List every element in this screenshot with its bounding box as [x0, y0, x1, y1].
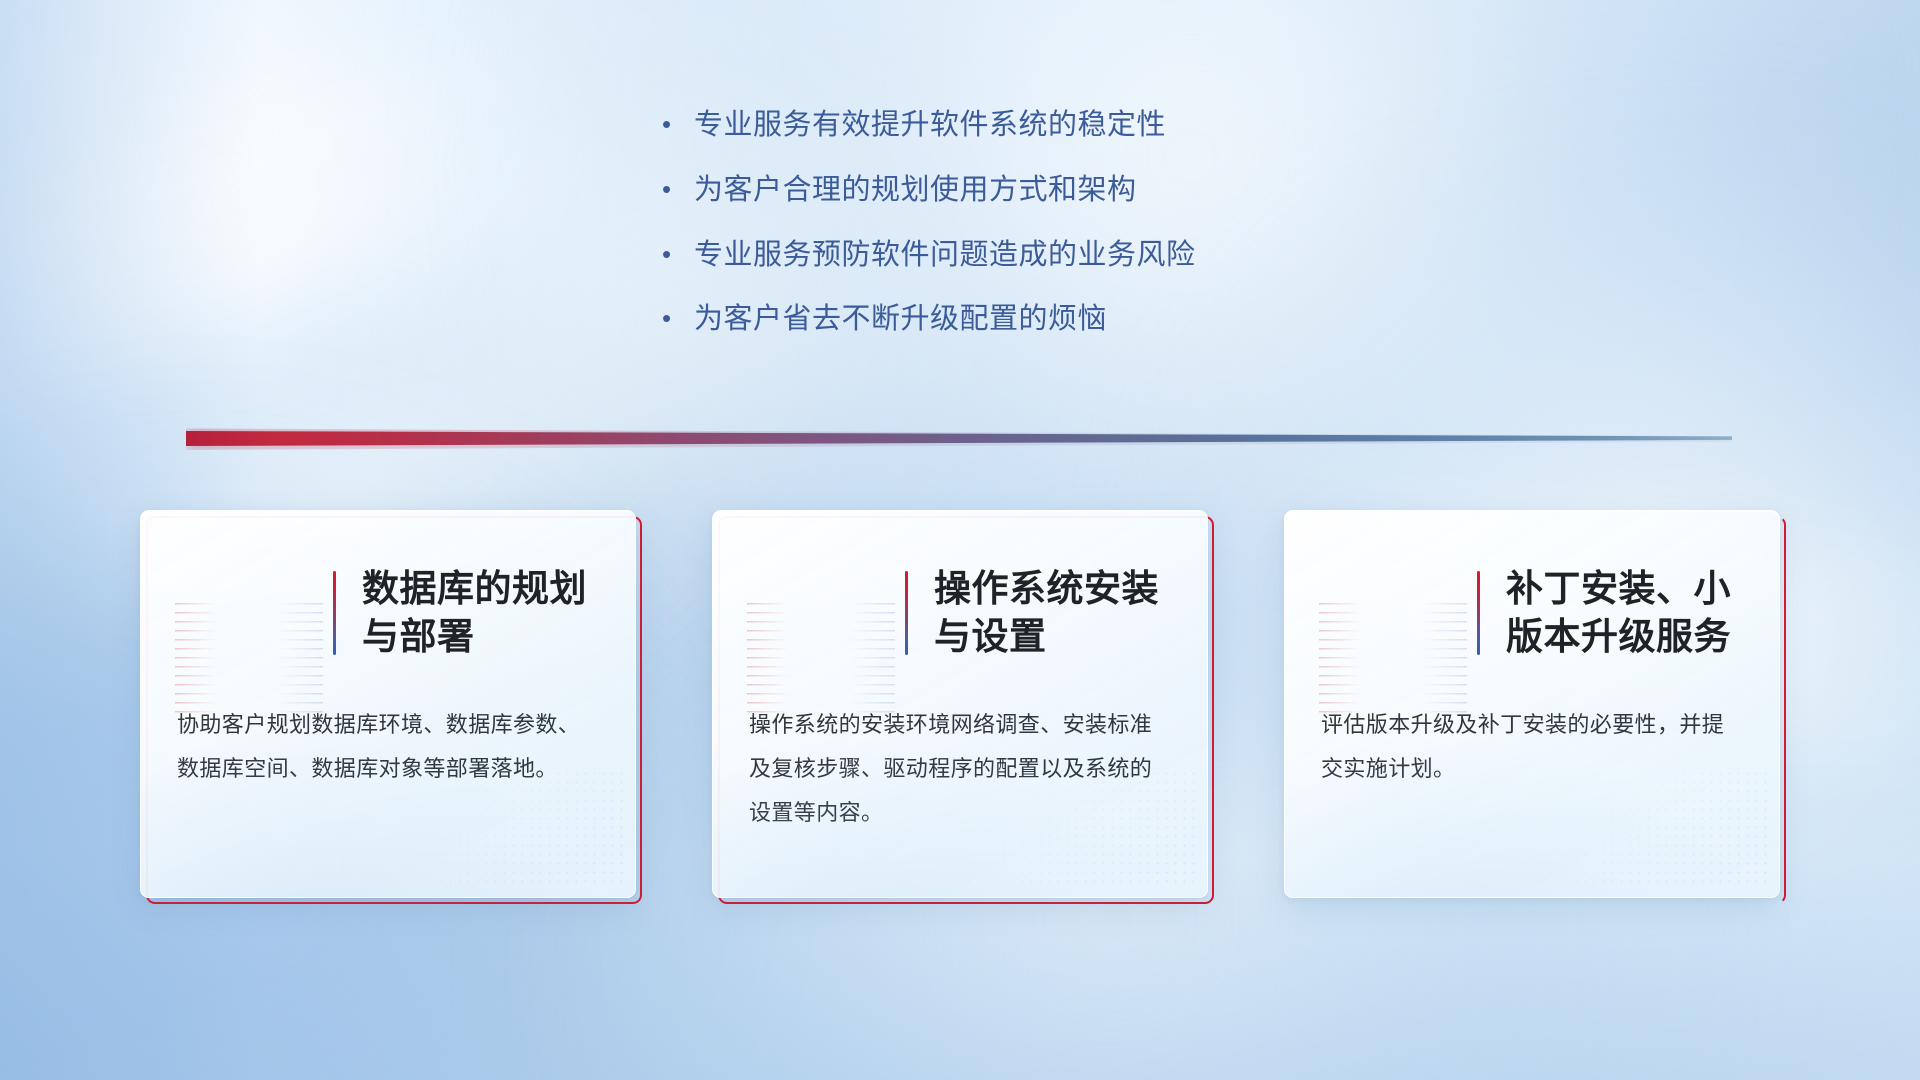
card-header: 01 数据库的规划与部署 — [141, 511, 635, 679]
card-number-03: 03 — [1319, 567, 1467, 659]
card-body-02: 操作系统的安装环境网络调查、安装标准及复核步骤、驱动程序的配置以及系统的设置等内… — [713, 679, 1207, 835]
card-divider-rule — [333, 571, 336, 655]
service-cards-section: 01 数据库的规划与部署 协助客户规划数据库环境、数据库参数、数据库空间、数据库… — [0, 510, 1920, 898]
card-number-02: 02 — [747, 567, 895, 659]
bullet-dot-icon: • — [660, 108, 694, 141]
card-header: 03 补丁安装、小版本升级服务 — [1285, 511, 1779, 679]
bullet-text-1: 专业服务有效提升软件系统的稳定性 — [694, 108, 1420, 143]
card-title-02: 操作系统安装与设置 — [934, 565, 1177, 661]
bullet-dot-icon: • — [660, 173, 694, 206]
card-divider-rule — [1477, 571, 1480, 655]
card-body-01: 协助客户规划数据库环境、数据库参数、数据库空间、数据库对象等部署落地。 — [141, 679, 635, 791]
service-card-03[interactable]: 03 补丁安装、小版本升级服务 评估版本升级及补丁安装的必要性，并提交实施计划。 — [1284, 510, 1780, 898]
card-surface: 01 数据库的规划与部署 协助客户规划数据库环境、数据库参数、数据库空间、数据库… — [140, 510, 636, 898]
card-number-text: 03 — [1319, 567, 1426, 659]
card-title-03: 补丁安装、小版本升级服务 — [1506, 565, 1749, 661]
list-item: • 专业服务预防软件问题造成的业务风险 — [660, 238, 1420, 273]
list-item: • 为客户合理的规划使用方式和架构 — [660, 173, 1420, 208]
benefits-bullet-list: • 专业服务有效提升软件系统的稳定性 • 为客户合理的规划使用方式和架构 • 专… — [660, 108, 1420, 367]
section-divider — [186, 430, 1732, 446]
service-card-01[interactable]: 01 数据库的规划与部署 协助客户规划数据库环境、数据库参数、数据库空间、数据库… — [140, 510, 636, 898]
card-header: 02 操作系统安装与设置 — [713, 511, 1207, 679]
bullet-dot-icon: • — [660, 238, 694, 271]
card-divider-rule — [905, 571, 908, 655]
card-body-03: 评估版本升级及补丁安装的必要性，并提交实施计划。 — [1285, 679, 1779, 791]
list-item: • 专业服务有效提升软件系统的稳定性 — [660, 108, 1420, 143]
card-surface: 02 操作系统安装与设置 操作系统的安装环境网络调查、安装标准及复核步骤、驱动程… — [712, 510, 1208, 898]
card-number-text: 01 — [175, 567, 282, 659]
bullet-text-3: 专业服务预防软件问题造成的业务风险 — [694, 238, 1420, 273]
bullet-dot-icon: • — [660, 302, 694, 335]
bullet-text-2: 为客户合理的规划使用方式和架构 — [694, 173, 1420, 208]
card-surface: 03 补丁安装、小版本升级服务 评估版本升级及补丁安装的必要性，并提交实施计划。 — [1284, 510, 1780, 898]
card-number-text: 02 — [747, 567, 854, 659]
card-number-01: 01 — [175, 567, 323, 659]
service-card-02[interactable]: 02 操作系统安装与设置 操作系统的安装环境网络调查、安装标准及复核步骤、驱动程… — [712, 510, 1208, 898]
list-item: • 为客户省去不断升级配置的烦恼 — [660, 302, 1420, 337]
card-title-01: 数据库的规划与部署 — [362, 565, 605, 661]
bullet-text-4: 为客户省去不断升级配置的烦恼 — [694, 302, 1420, 337]
